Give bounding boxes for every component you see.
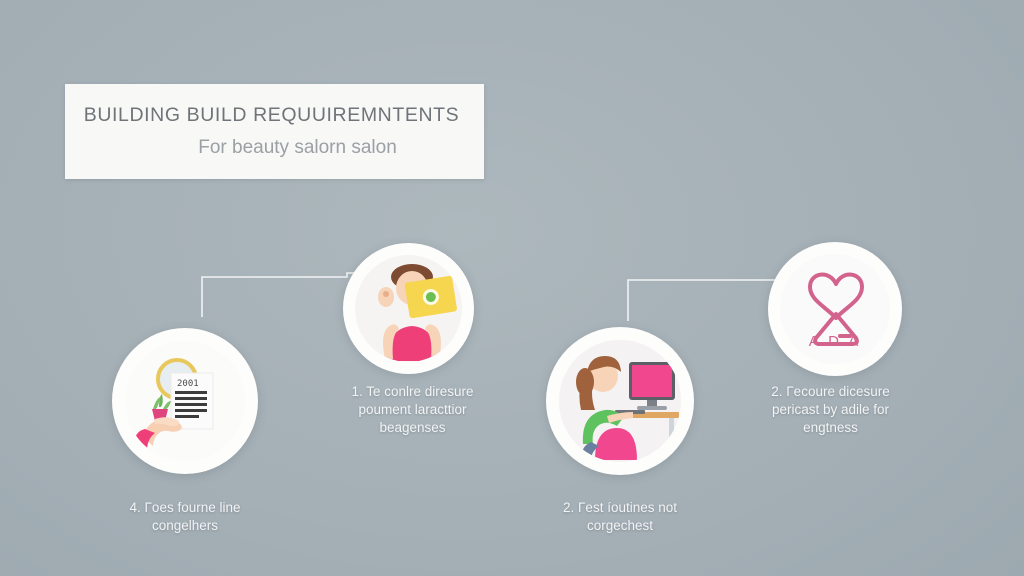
node-4-bubble[interactable]: A D A	[768, 242, 902, 376]
woman-at-computer-desk-icon	[559, 340, 680, 461]
node-2-caption-line-2: poument laracttior	[330, 401, 495, 419]
node-1-icon-backdrop: 2001	[125, 341, 245, 461]
page-title: BUILDING BUILD REQUUIREMNTENTS	[84, 104, 466, 127]
node-1-caption-line-2: congelhers	[85, 517, 285, 535]
node-4-icon-backdrop: A D A	[780, 254, 890, 364]
node-1-bubble[interactable]: 2001	[112, 328, 258, 474]
node-4-caption-line-2: pericast by adile for	[748, 401, 913, 419]
node-2-caption-line-3: beagenses	[330, 419, 495, 437]
node-3-caption-line-1: 2. Γest íoutines not	[520, 499, 720, 517]
node-3-caption-line-2: corgechest	[520, 517, 720, 535]
hand-holding-document-magnifier-icon: 2001	[125, 341, 245, 461]
node-2-icon-backdrop	[355, 255, 462, 362]
node-1-caption: 4. Γoes fourne line congelhers	[85, 499, 285, 535]
person-holding-yellow-card-icon	[355, 255, 462, 362]
node-4-caption: 2. Γecoure dicesure pericast by adile fo…	[748, 383, 913, 437]
infographic-canvas: BUILDING BUILD REQUUIREMNTENTS For beaut…	[0, 0, 1024, 576]
title-card: BUILDING BUILD REQUUIREMNTENTS For beaut…	[65, 84, 484, 179]
svg-text:2001: 2001	[177, 379, 199, 389]
node-2-bubble[interactable]	[343, 243, 474, 374]
node-2-caption: 1. Te conlre diresure poument laracttior…	[330, 383, 495, 437]
page-subtitle: For beauty salorn salon	[152, 137, 397, 159]
node-3-bubble[interactable]	[546, 327, 694, 475]
node-1-caption-line-1: 4. Γoes fourne line	[85, 499, 285, 517]
node-4-caption-line-3: engtness	[748, 419, 913, 437]
node-3-icon-backdrop	[559, 340, 680, 461]
node-3-caption: 2. Γest íoutines not corgechest	[520, 499, 720, 535]
node-4-caption-line-1: 2. Γecoure dicesure	[748, 383, 913, 401]
ada-logo-text: A D A	[780, 333, 890, 350]
node-2-caption-line-1: 1. Te conlre diresure	[330, 383, 495, 401]
